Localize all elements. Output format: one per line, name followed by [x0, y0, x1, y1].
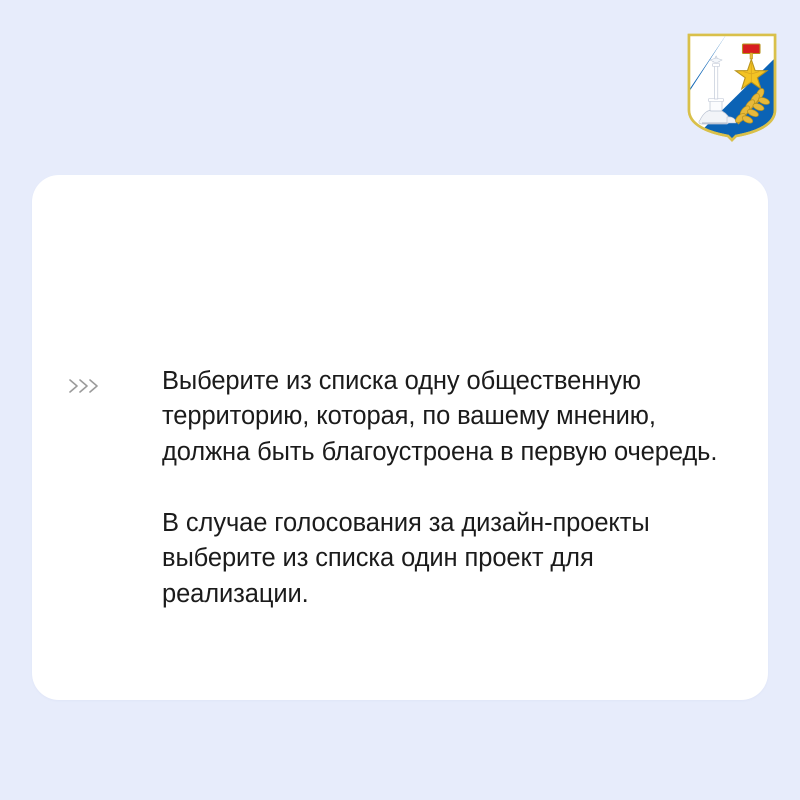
paragraph-design-project-choice: В случае голосования за дизайн-проекты в… [162, 506, 740, 613]
triple-chevron-icon [68, 376, 102, 396]
instruction-text: Выберите из списка одну общественную тер… [162, 364, 740, 613]
slide-root: Выберите из списка одну общественную тер… [0, 0, 800, 800]
content-card: Выберите из списка одну общественную тер… [32, 175, 768, 700]
instruction-block: Выберите из списка одну общественную тер… [68, 338, 740, 638]
paragraph-territory-choice: Выберите из списка одну общественную тер… [162, 364, 740, 471]
coat-of-arms-sevastopol [686, 32, 778, 142]
bullet-row: Выберите из списка одну общественную тер… [68, 364, 740, 613]
